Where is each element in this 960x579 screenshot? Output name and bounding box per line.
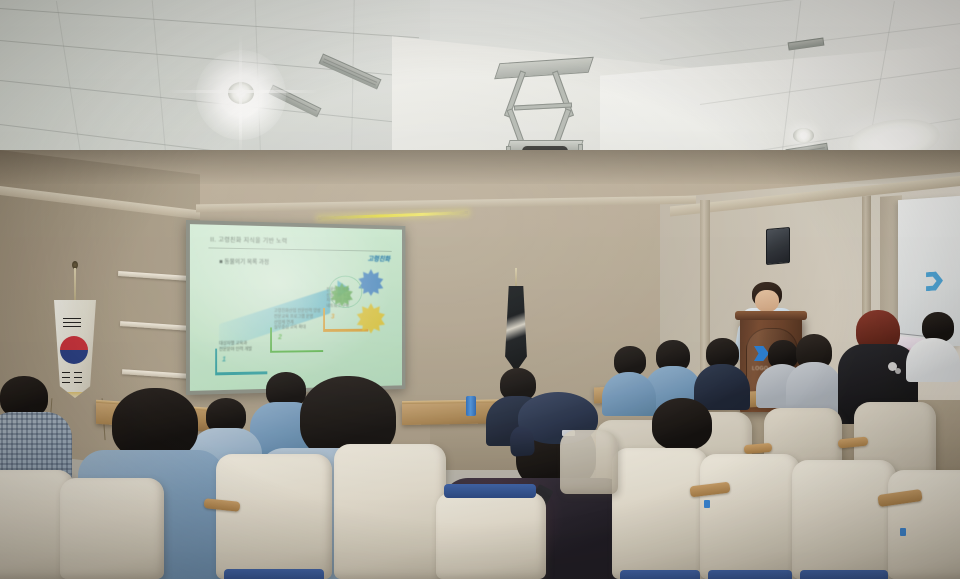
trigram-bar [63,326,81,327]
trigram-bar [63,322,81,323]
auditorium-seat[interactable] [60,478,164,579]
auditorium-seat[interactable] [888,470,960,579]
lens-flare [168,90,318,93]
wall-ceiling-shadow [0,150,960,184]
attendee-body [602,372,656,416]
trigram-bar [62,382,70,383]
auditorium-seat[interactable] [792,460,896,579]
seat-cushion [620,570,700,579]
attendee-ponytail-body [786,362,842,414]
shirt-logo [895,368,901,374]
lens-flare [239,34,242,154]
seat-cushion [708,570,792,579]
trigram-bar [74,377,82,378]
trigram-bar [63,318,81,319]
auditorium-seat[interactable] [612,448,708,579]
attendee-head [652,398,712,450]
presenter-face [755,290,779,312]
ceiling-downlight [793,128,814,143]
beverage-can [466,396,476,416]
taeguk-blue [60,350,88,364]
screen-light-bloom [190,224,402,391]
attendee-laptop-body [906,338,960,382]
korean-flag-cloth [54,300,96,398]
projection-screen-surface: II. 고령친화 지식을 기반 노력 ■ 동물의기 목록 과정 고령친화 대상자… [190,224,402,391]
trigram-bar [62,372,70,373]
seat-cushion [224,569,324,579]
projection-screen: II. 고령친화 지식을 기반 노력 ■ 동물의기 목록 과정 고령친화 대상자… [186,220,405,395]
podium-lectern-top [735,311,807,320]
auditorium-seat[interactable] [334,444,446,579]
auditorium-seat[interactable] [216,454,332,579]
trigram-bar [74,372,82,373]
wall-speaker [766,227,790,265]
trigram-bar [74,382,82,383]
auditorium-seat[interactable] [560,430,618,494]
seat-cushion [800,570,888,579]
taeguk-red [60,336,88,350]
trigram-bar [62,377,70,378]
banner-logo-icon [926,271,943,291]
auditorium-seat[interactable] [700,454,800,579]
auditorium-seat[interactable] [436,492,546,579]
auditorium-photo: II. 고령친화 지식을 기반 노력 ■ 동물의기 목록 과정 고령친화 대상자… [0,0,960,579]
attendee-body [694,364,750,410]
seat-cushion [444,484,536,498]
seat-number-tag [704,500,710,508]
seat-number-tag [900,528,906,536]
